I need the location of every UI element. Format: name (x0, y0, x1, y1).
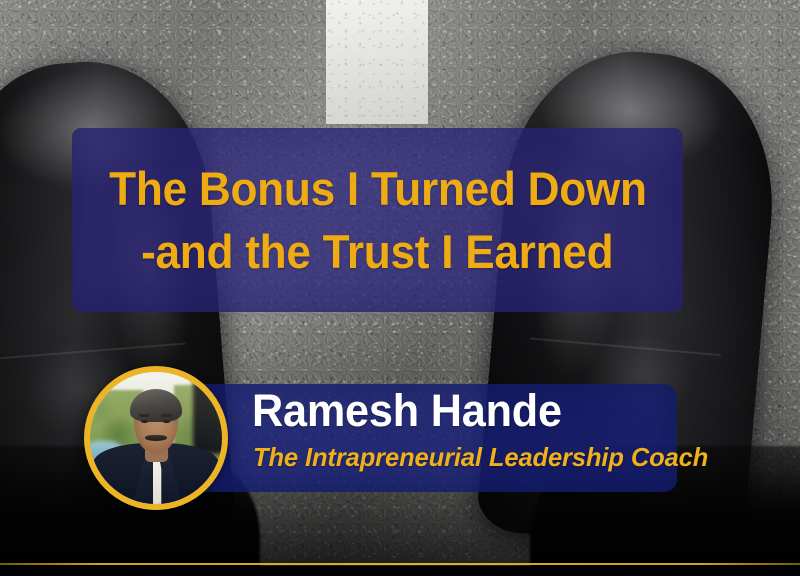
presenter-tagline: The Intrapreneurial Leadership Coach (253, 444, 708, 470)
presenter-name: Ramesh Hande (252, 388, 562, 433)
slide-canvas: The Bonus I Turned Down -and the Trust I… (0, 0, 800, 576)
title-line-1: The Bonus I Turned Down (109, 165, 647, 212)
avatar-eye-left (141, 420, 148, 423)
avatar-eye-right (163, 420, 170, 423)
avatar-eyebrow-right (161, 414, 172, 417)
gold-divider-rule (0, 563, 800, 565)
avatar-eyebrow-left (139, 414, 150, 417)
avatar (84, 366, 228, 510)
title-banner: The Bonus I Turned Down -and the Trust I… (72, 128, 683, 312)
title-line-2: -and the Trust I Earned (141, 228, 613, 275)
bottom-dark-strip (0, 566, 800, 576)
